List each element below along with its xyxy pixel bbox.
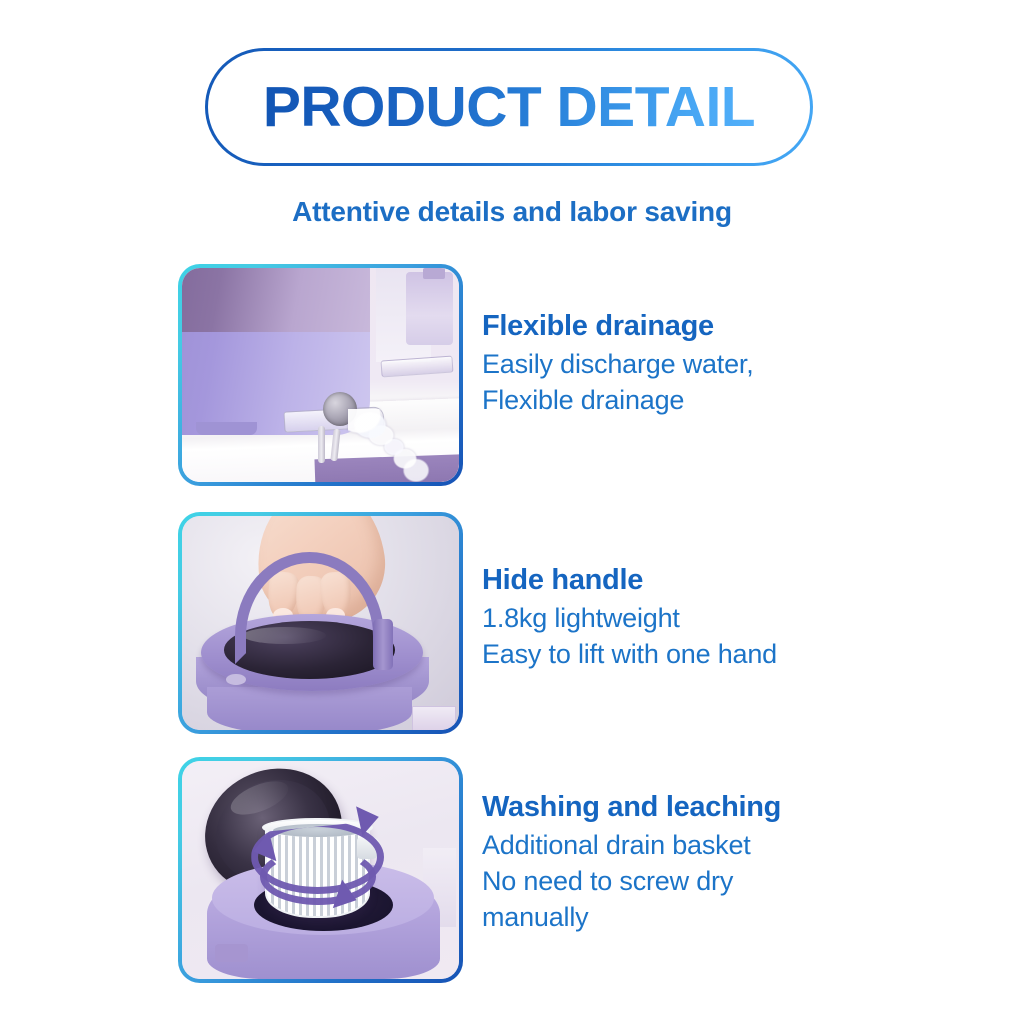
feature-row-flexible-drainage: Flexible drainage Easily discharge water…	[0, 264, 1024, 486]
feature-row-washing-and-leaching: Washing and leaching Additional drain ba…	[0, 757, 1024, 983]
lid-latch	[226, 674, 245, 685]
feature-body-line-1: Easily discharge water,	[482, 347, 952, 383]
machine-foot	[196, 422, 257, 435]
machine-foot	[215, 944, 248, 961]
product-detail-infographic: PRODUCT DETAIL Attentive details and lab…	[0, 0, 1024, 1024]
drainage-photo-frame	[178, 264, 463, 486]
machine-base-lower	[207, 687, 412, 730]
hide-handle-photo-frame	[178, 512, 463, 734]
page-title-pill: PRODUCT DETAIL	[205, 48, 813, 166]
page-title-pill-inner: PRODUCT DETAIL	[208, 51, 810, 163]
feature-body-line-1: Additional drain basket	[482, 828, 952, 864]
hide-handle-photo	[182, 516, 459, 730]
drain-tube-left	[318, 426, 325, 462]
rotation-arrow-ring-lower-icon	[260, 848, 376, 905]
feature-row-hide-handle: Hide handle 1.8kg lightweight Easy to li…	[0, 512, 1024, 734]
background-package	[412, 706, 456, 730]
drain-basket-photo-frame	[178, 757, 463, 983]
water-stream	[348, 409, 439, 482]
feature-body-line-2: No need to screw dry	[482, 864, 952, 900]
feature-text-flexible-drainage: Flexible drainage Easily discharge water…	[482, 310, 952, 419]
feature-text-washing-and-leaching: Washing and leaching Additional drain ba…	[482, 791, 952, 936]
detergent-bottle-cap	[423, 268, 445, 279]
feature-body-line-2: Flexible drainage	[482, 383, 952, 419]
feature-body-line-3: manually	[482, 900, 952, 936]
page-title: PRODUCT DETAIL	[263, 79, 755, 136]
drain-basket-photo	[182, 761, 459, 979]
drainage-photo	[182, 268, 459, 482]
feature-body-line-1: 1.8kg lightweight	[482, 601, 952, 637]
handle-grip	[373, 619, 392, 670]
detergent-bottle	[406, 272, 453, 345]
feature-heading: Flexible drainage	[482, 310, 952, 343]
page-subtitle: Attentive details and labor saving	[0, 196, 1024, 228]
feature-heading: Washing and leaching	[482, 791, 952, 824]
feature-body-line-2: Easy to lift with one hand	[482, 637, 952, 673]
feature-text-hide-handle: Hide handle 1.8kg lightweight Easy to li…	[482, 564, 952, 673]
feature-heading: Hide handle	[482, 564, 952, 597]
